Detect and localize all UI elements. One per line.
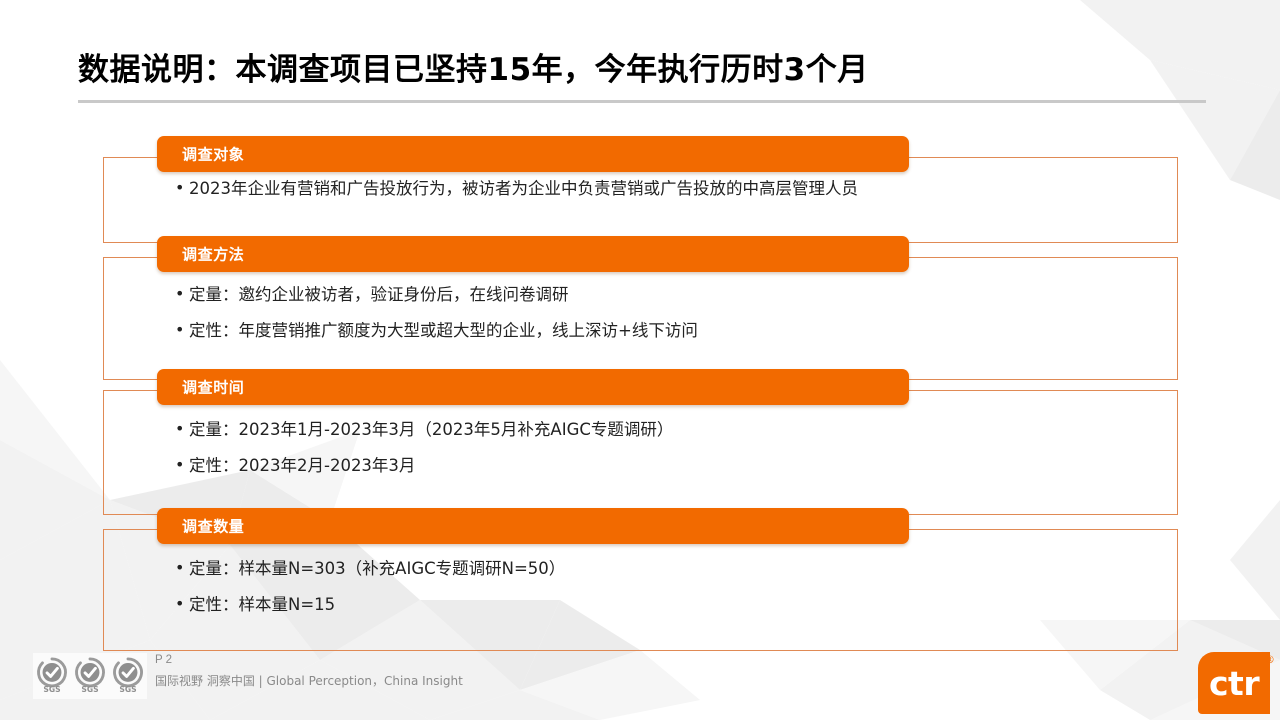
list-item: 定性：年度营销推广额度为大型或超大型的企业，线上深访+线下访问 [175, 320, 1160, 342]
registered-trademark-icon: ® [1264, 654, 1275, 665]
title-divider [78, 100, 1206, 103]
section-header-bar: 调查时间 [157, 369, 909, 405]
list-item: 定性：样本量N=15 [175, 594, 1160, 616]
section-header-bar: 调查方法 [157, 236, 909, 272]
section-header-bar: 调查数量 [157, 508, 909, 544]
section-header-label: 调查对象 [182, 144, 244, 165]
svg-text:SGS: SGS [81, 685, 98, 694]
list-item: 2023年企业有营销和广告投放行为，被访者为企业中负责营销或广告投放的中高层管理… [175, 178, 1160, 200]
page-number: P 2 [155, 652, 463, 668]
section-body: 2023年企业有营销和广告投放行为，被访者为企业中负责营销或广告投放的中高层管理… [175, 178, 1160, 200]
footer-tagline: 国际视野 洞察中国 | Global Perception，China Insi… [155, 673, 463, 689]
ctr-wordmark: ctr [1209, 666, 1259, 702]
sgs-certification-icon: SGS [72, 655, 108, 697]
section-body: 定量：2023年1月-2023年3月（2023年5月补充AIGC专题调研） 定性… [175, 419, 1160, 477]
ctr-brand-logo: ctr ® [1198, 652, 1280, 714]
sgs-certification-icon: SGS [110, 655, 146, 697]
section-body: 定量：样本量N=303（补充AIGC专题调研N=50） 定性：样本量N=15 [175, 558, 1160, 616]
slide-canvas: 数据说明：本调查项目已坚持15年，今年执行历时3个月 调查对象 2023年企业有… [0, 0, 1280, 720]
section-header-label: 调查时间 [182, 377, 244, 398]
section-header-bar: 调查对象 [157, 136, 909, 172]
list-item: 定量：邀约企业被访者，验证身份后，在线问卷调研 [175, 284, 1160, 306]
svg-text:SGS: SGS [119, 685, 136, 694]
list-item: 定量：2023年1月-2023年3月（2023年5月补充AIGC专题调研） [175, 419, 1160, 441]
sgs-certification-icon: SGS [34, 655, 70, 697]
sgs-certification-logos: SGS SGS SGS [33, 653, 147, 699]
section-body: 定量：邀约企业被访者，验证身份后，在线问卷调研 定性：年度营销推广额度为大型或超… [175, 284, 1160, 342]
list-item: 定量：样本量N=303（补充AIGC专题调研N=50） [175, 558, 1160, 580]
list-item: 定性：2023年2月-2023年3月 [175, 455, 1160, 477]
page-title-block: 数据说明：本调查项目已坚持15年，今年执行历时3个月 [78, 48, 1206, 103]
section-header-label: 调查数量 [182, 516, 244, 537]
section-header-label: 调查方法 [182, 244, 244, 265]
footer-text-block: P 2 国际视野 洞察中国 | Global Perception，China … [155, 652, 463, 689]
footer: SGS SGS SGS P 2 国际视野 洞察中国 | Global Perce… [0, 646, 1280, 720]
page-title: 数据说明：本调查项目已坚持15年，今年执行历时3个月 [78, 48, 1206, 92]
sections-container: 调查对象 2023年企业有营销和广告投放行为，被访者为企业中负责营销或广告投放的… [0, 0, 1280, 720]
svg-text:SGS: SGS [43, 685, 60, 694]
